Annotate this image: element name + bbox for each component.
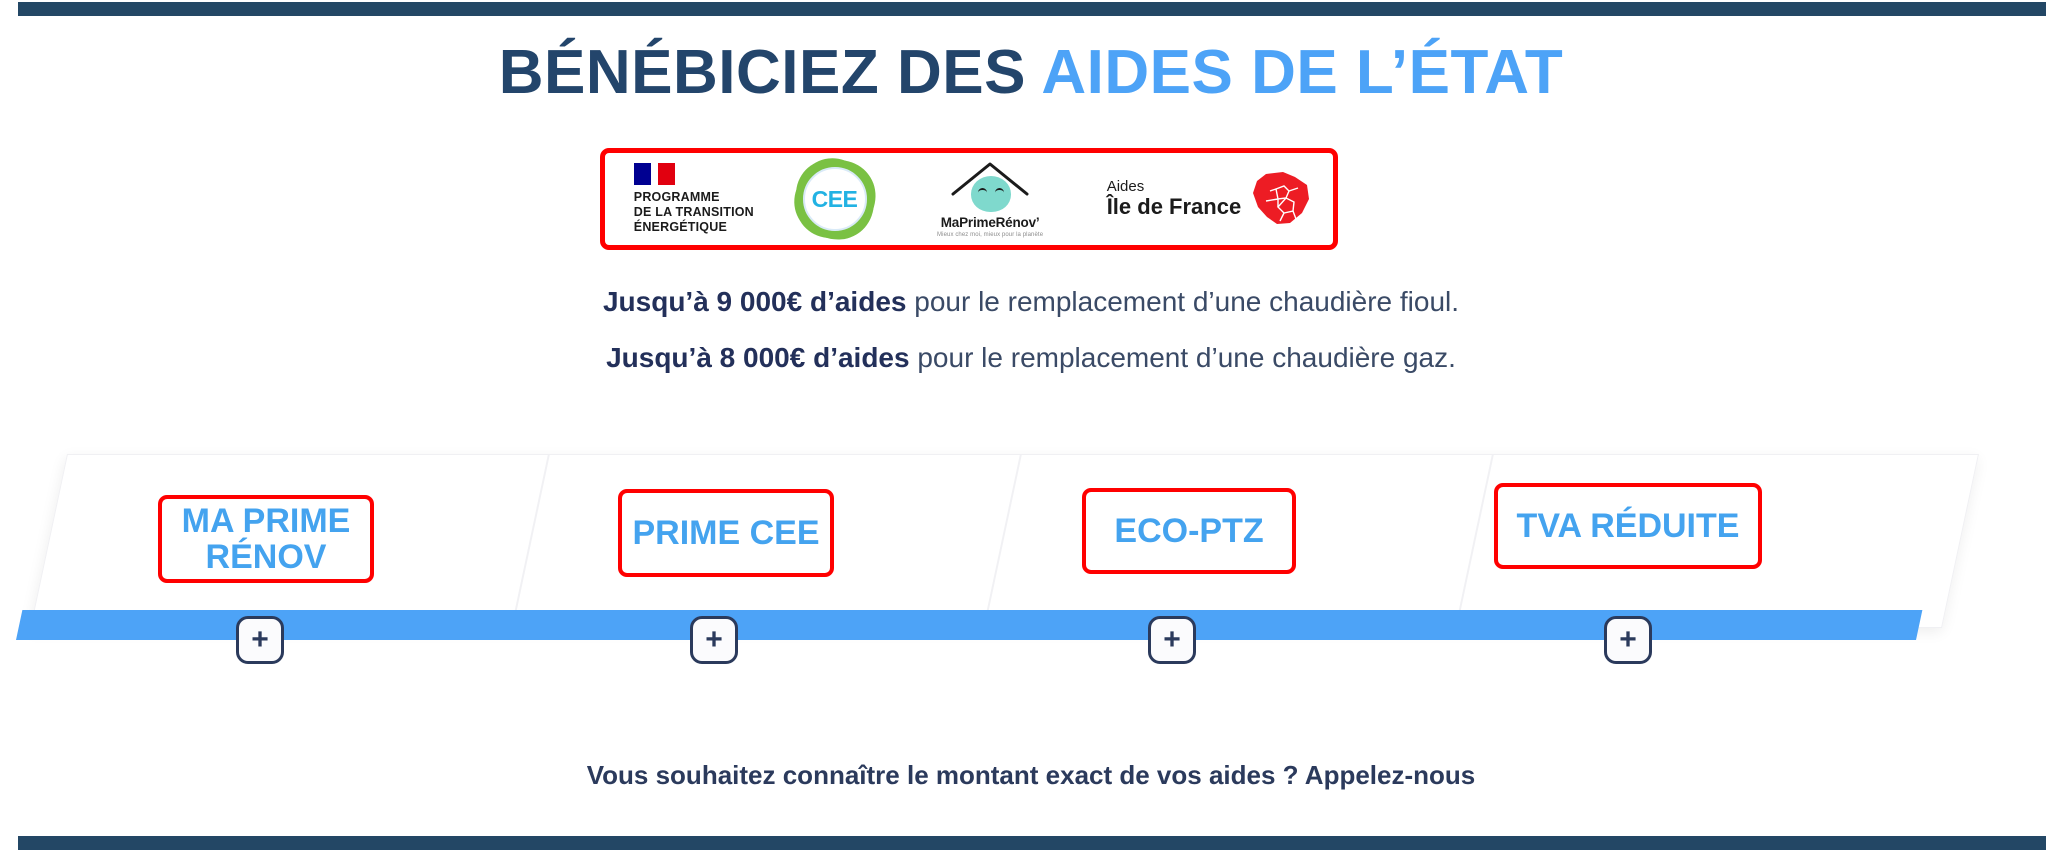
aides-etat-section: BÉNÉBICIEZ DES AIDES DE L’ÉTAT PROGRAMME… [0, 0, 2062, 854]
cee-badge-icon: CEE [796, 160, 874, 238]
logo-cee: CEE [796, 160, 874, 238]
contact-prompt: Vous souhaitez connaître le montant exac… [0, 760, 2062, 791]
smiley-eyes-icon [978, 188, 1004, 196]
page-title-light: AIDES DE L’ÉTAT [1041, 38, 1563, 107]
maprimerenov-name: MaPrimeRénov’ [941, 215, 1040, 230]
aid-box-label: MA PRIME RÉNOV [162, 503, 370, 576]
aids-banner: MA PRIME RÉNOV + PRIME CEE + ECO-PTZ + T… [0, 440, 2062, 660]
page-title-dark: BÉNÉBICIEZ DES [499, 38, 1042, 107]
expand-button-tva-reduite[interactable]: + [1604, 616, 1652, 664]
logo-programme-transition-energetique: PROGRAMME DE LA TRANSITION ÉNERGÉTIQUE [626, 163, 754, 236]
subtitle-fioul-amount: Jusqu’à 9 000€ d’aides [603, 286, 907, 317]
plus-icon: + [1619, 625, 1637, 655]
subtitle-fioul-rest: pour le remplacement d’une chaudière fio… [906, 286, 1459, 317]
aid-box-label: PRIME CEE [632, 515, 819, 551]
partner-logo-bar: PROGRAMME DE LA TRANSITION ÉNERGÉTIQUE C… [600, 148, 1338, 250]
idf-line-1: Aides [1107, 179, 1242, 195]
top-divider-rule [18, 2, 2046, 16]
expand-button-ma-prime-renov[interactable]: + [236, 616, 284, 664]
expand-button-prime-cee[interactable]: + [690, 616, 738, 664]
aid-box-prime-cee[interactable]: PRIME CEE [618, 489, 834, 577]
aid-box-ma-prime-renov[interactable]: MA PRIME RÉNOV [158, 495, 374, 583]
plus-icon: + [251, 625, 269, 655]
aid-boxes: MA PRIME RÉNOV + PRIME CEE + ECO-PTZ + T… [0, 440, 2062, 660]
subtitle-fioul: Jusqu’à 9 000€ d’aides pour le remplacem… [0, 286, 2062, 318]
ile-de-france-map-icon [1250, 171, 1312, 227]
subtitle-gaz-rest: pour le remplacement d’une chaudière gaz… [910, 342, 1456, 373]
subtitle-gaz: Jusqu’à 8 000€ d’aides pour le remplacem… [0, 342, 2062, 374]
programme-line-2: DE LA TRANSITION [634, 205, 754, 220]
french-flag-icon [634, 163, 675, 185]
aid-box-eco-ptz[interactable]: ECO-PTZ [1082, 488, 1296, 574]
aid-box-tva-reduite[interactable]: TVA RÉDUITE [1494, 483, 1762, 569]
plus-icon: + [705, 625, 723, 655]
maprimerenov-house-icon [948, 160, 1032, 212]
expand-button-eco-ptz[interactable]: + [1148, 616, 1196, 664]
page-title: BÉNÉBICIEZ DES AIDES DE L’ÉTAT [0, 42, 2062, 104]
aid-box-label: TVA RÉDUITE [1517, 508, 1740, 544]
plus-icon: + [1163, 625, 1181, 655]
subtitle-gaz-amount: Jusqu’à 8 000€ d’aides [606, 342, 910, 373]
programme-line-3: ÉNERGÉTIQUE [634, 220, 754, 235]
maprimerenov-tagline: Mieux chez moi, mieux pour la planète [937, 232, 1043, 238]
logo-maprimerenov: MaPrimeRénov’ Mieux chez moi, mieux pour… [915, 160, 1065, 238]
idf-line-2: Île de France [1107, 195, 1242, 219]
aid-box-label: ECO-PTZ [1114, 513, 1263, 549]
programme-line-1: PROGRAMME [634, 190, 754, 205]
cee-label: CEE [812, 186, 858, 213]
bottom-divider-rule [18, 836, 2046, 850]
logo-aides-ile-de-france: Aides Île de France [1107, 171, 1313, 227]
